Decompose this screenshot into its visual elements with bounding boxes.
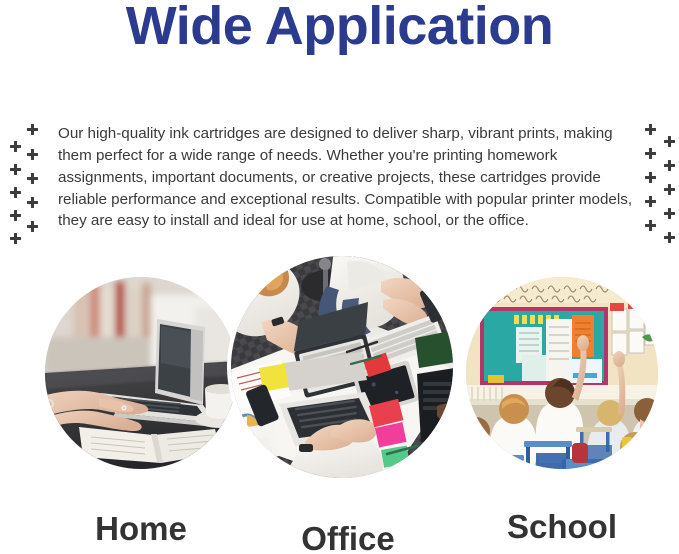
plus-icon-right-1 xyxy=(664,136,675,147)
office-scene-illustration xyxy=(231,256,453,478)
plus-icon-left-2 xyxy=(27,149,38,160)
wide-application-banner: Wide Application Our high-quality ink ca… xyxy=(0,0,679,554)
plus-icon-left-3 xyxy=(10,164,21,175)
plus-icon-right-0 xyxy=(645,124,656,135)
plus-icon-right-6 xyxy=(645,196,656,207)
gallery-label-office: Office xyxy=(237,521,459,554)
plus-icon-right-3 xyxy=(664,160,675,171)
plus-icon-right-4 xyxy=(645,172,656,183)
plus-icon-left-7 xyxy=(10,210,21,221)
plus-icon-right-8 xyxy=(645,220,656,231)
plus-icon-left-0 xyxy=(27,124,38,135)
plus-icon-left-9 xyxy=(10,233,21,244)
gallery-image-home xyxy=(45,277,237,469)
school-scene-illustration xyxy=(466,277,658,469)
home-scene-illustration xyxy=(45,277,237,469)
gallery-label-school: School xyxy=(466,509,658,545)
plus-icon-right-7 xyxy=(664,208,675,219)
gallery-label-home: Home xyxy=(45,511,237,547)
plus-icon-right-9 xyxy=(664,232,675,243)
plus-icon-left-4 xyxy=(27,173,38,184)
body-paragraph: Our high-quality ink cartridges are desi… xyxy=(58,123,642,232)
plus-icon-right-2 xyxy=(645,148,656,159)
plus-icon-right-5 xyxy=(664,184,675,195)
page-title: Wide Application xyxy=(0,0,679,54)
plus-icon-left-6 xyxy=(27,197,38,208)
plus-icon-left-1 xyxy=(10,141,21,152)
plus-icon-left-5 xyxy=(10,187,21,198)
plus-icon-left-8 xyxy=(27,221,38,232)
gallery-image-office xyxy=(231,256,453,478)
gallery-image-school xyxy=(466,277,658,469)
